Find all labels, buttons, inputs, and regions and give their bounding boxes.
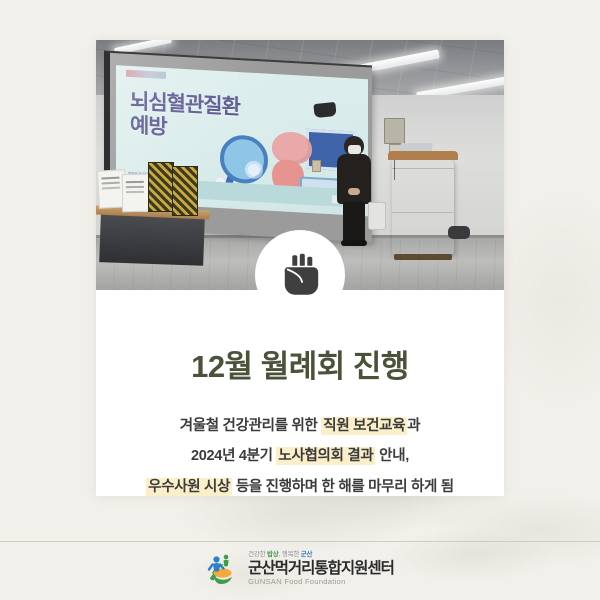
presenter-shoes: [341, 240, 367, 246]
gift-box: [148, 162, 174, 212]
presenter-jacket: [337, 154, 371, 204]
highlighted-phrase: 직원 보건교육: [321, 417, 407, 435]
foundation-logo-icon: [206, 552, 240, 586]
footer-branding: 건강한 밥상, 행복한 군산 군산먹거리통합지원센터 GUNSAN Food F…: [0, 548, 600, 590]
poster-canvas: 뇌심혈관질환 예방 www.kosha.or.kr: [0, 0, 600, 600]
body-copy: 겨울철 건강관리를 위한 직원 보건교육과2024년 4분기 노사협의회 결과 …: [96, 411, 504, 501]
body-line: 겨울철 건강관리를 위한 직원 보건교육과: [96, 411, 504, 441]
body-text: 등을 진행하며 한 해를 마무리 하게 됨: [232, 479, 454, 495]
foundation-name-block: 건강한 밥상, 행복한 군산 군산먹거리통합지원센터 GUNSAN Food F…: [248, 552, 394, 586]
gift-box: [172, 166, 198, 216]
podium-base: [394, 254, 452, 260]
presenter-trousers: [343, 202, 365, 242]
table-base: [99, 214, 205, 266]
foundation-name: 군산먹거리통합지원센터: [248, 561, 394, 577]
tagline-part: 밥상: [267, 551, 279, 558]
body-text: 과: [407, 418, 420, 434]
body-text: 겨울철 건강관리를 위한: [180, 418, 322, 434]
wall-speaker: [313, 102, 336, 118]
tagline-part: , 행복한: [279, 551, 301, 558]
body-text: 안내,: [375, 448, 409, 464]
wall-control-panel: [384, 118, 405, 144]
page-title: 12월 월례회 진행: [96, 290, 504, 385]
slide-logo: [126, 70, 166, 79]
wall-outlet: [312, 160, 321, 172]
certificate: [122, 174, 151, 212]
footer-divider: [0, 541, 600, 542]
presenter-hands: [348, 188, 360, 195]
content-card: 뇌심혈관질환 예방 www.kosha.or.kr: [96, 40, 504, 496]
wooden-podium: [392, 158, 454, 254]
podium-top: [388, 151, 458, 160]
tagline-part: 군산: [301, 551, 313, 558]
face-mask: [348, 145, 361, 154]
floor-bag: [448, 226, 470, 239]
highlighted-phrase: 노사협의회 결과: [276, 447, 375, 465]
tagline-part: 건강한: [248, 551, 267, 558]
body-line: 2024년 4분기 노사협의회 결과 안내,: [96, 441, 504, 471]
foundation-tagline: 건강한 밥상, 행복한 군산: [248, 552, 394, 559]
highlighted-phrase: 우수사원 시상: [146, 478, 232, 496]
illustration-virus: [248, 164, 260, 177]
body-line: 우수사원 시상 등을 진행하며 한 해를 마무리 하게 됨: [96, 472, 504, 502]
foundation-name-english: GUNSAN Food Foundation: [248, 578, 394, 586]
body-text: 2024년 4분기: [191, 448, 276, 464]
trash-bin: [368, 202, 386, 230]
text-block: 12월 월례회 진행 겨울철 건강관리를 위한 직원 보건교육과2024년 4분…: [96, 290, 504, 496]
presenter: [334, 136, 374, 248]
